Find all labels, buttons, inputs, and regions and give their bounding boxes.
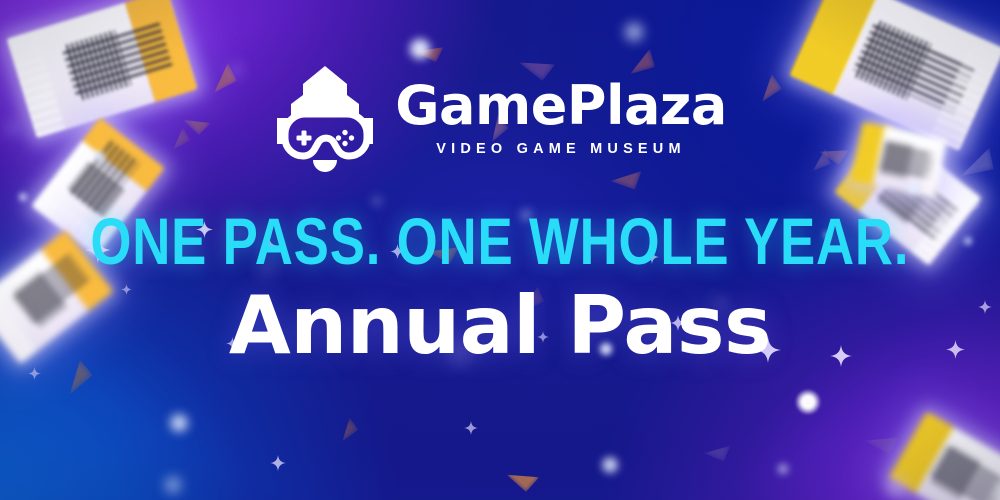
annual-pass-promo-banner: GamePlaza VIDEO GAME MUSEUM ONE PASS. ON… — [0, 0, 1000, 500]
headline: ONE PASS. ONE WHOLE YEAR. — [91, 208, 910, 274]
brand-lockup: GamePlaza VIDEO GAME MUSEUM — [273, 62, 727, 174]
brand-text-block: GamePlaza VIDEO GAME MUSEUM — [395, 79, 727, 157]
subheadline: Annual Pass — [229, 286, 771, 366]
brand-name: GamePlaza — [395, 79, 727, 133]
banner-content: GamePlaza VIDEO GAME MUSEUM ONE PASS. ON… — [0, 0, 1000, 500]
castle-gamepad-logo-icon — [273, 62, 377, 174]
brand-tagline: VIDEO GAME MUSEUM — [436, 142, 686, 157]
